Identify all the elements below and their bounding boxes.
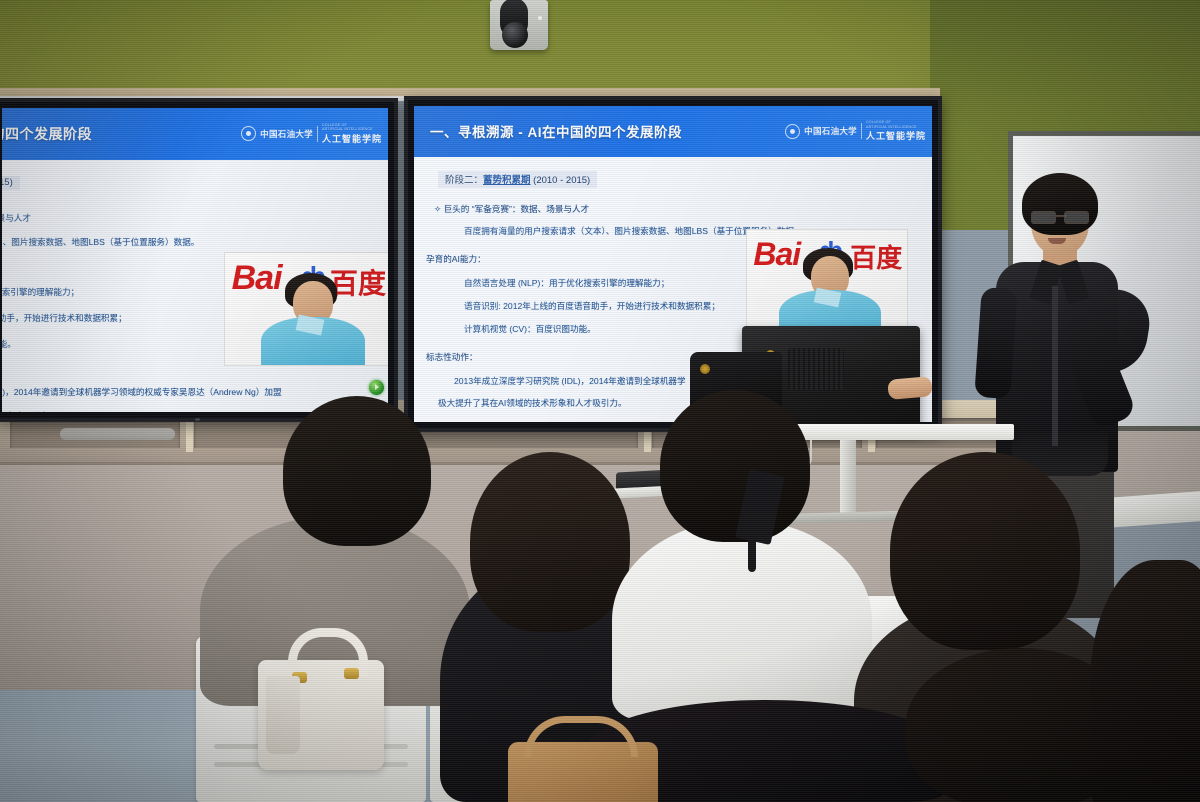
stage-name: 蓄势积累期 bbox=[483, 175, 531, 186]
department-block: COLLEGE OF ARTIFICIAL INTELLIGENCE 人工智能学… bbox=[866, 120, 926, 142]
audience-member-head bbox=[660, 390, 810, 542]
bag-clip-icon bbox=[700, 364, 710, 374]
camera-dome bbox=[502, 22, 528, 48]
classroom-photo: 国的四个发展阶段 中国石油大学 COLLEGE OF ARTIFICIAL IN… bbox=[0, 0, 1200, 802]
right-slide-logo: 中国石油大学 COLLEGE OF ARTIFICIAL INTELLIGENC… bbox=[785, 120, 926, 142]
stage-prefix: 阶段二： bbox=[445, 175, 483, 186]
audience-member-head bbox=[470, 452, 630, 632]
strap-loop bbox=[748, 520, 756, 572]
ceiling-camera bbox=[490, 0, 548, 50]
display-led-icon bbox=[195, 418, 200, 421]
slide-section-2-item: 语音识别: 2012年上线的百度语音助手，开始进行技术和数据积累； bbox=[464, 300, 720, 312]
soundbar-left bbox=[60, 428, 175, 440]
slide-section-3-item: 2013年成立深度学习研究院 (IDL)，2014年邀请到全球机器学 bbox=[454, 375, 686, 387]
slide-section-2-item: 自然语言处理 (NLP)：用于优化搜索引擎的理解能力； bbox=[464, 277, 669, 289]
baidu-wordmark: Bai bbox=[232, 259, 282, 298]
slide-line: (IDL)，2014年邀请到全球机器学习领域的权威专家吴恩达（Andrew Ng… bbox=[2, 386, 282, 398]
camera-indicator-icon bbox=[538, 16, 542, 20]
presenter-shirt-placket bbox=[1052, 286, 1058, 446]
baidu-photo: Bai ȸ 百度 bbox=[746, 229, 908, 337]
handbag-side-flap bbox=[266, 676, 300, 754]
slide-section-2: 孕育的AI能力： bbox=[426, 253, 486, 265]
department-name: 人工智能学院 bbox=[866, 129, 926, 142]
left-slide-logo: 中国石油大学 COLLEGE OF ARTIFICIAL INTELLIGENC… bbox=[241, 123, 382, 145]
baidu-wordmark: Bai bbox=[753, 236, 800, 273]
audience-member-head bbox=[283, 396, 431, 546]
play-badge-icon[interactable] bbox=[369, 380, 384, 395]
university-name: 中国石油大学 bbox=[260, 128, 313, 140]
left-slide-title: 国的四个发展阶段 bbox=[2, 124, 92, 144]
left-slide-body: 15) 场景与人才 求（文本）、图片搜索数据、地图LBS（基于位置服务）数据。 … bbox=[2, 160, 388, 412]
slide-section-3: 标志性动作： bbox=[426, 351, 478, 363]
baidu-photo: Bai ȸ 百度 bbox=[224, 252, 388, 366]
slide-line: 场景与人才 bbox=[2, 212, 31, 224]
university-seal-icon bbox=[241, 126, 256, 141]
university-seal-icon bbox=[785, 124, 800, 139]
slide-section-3-item: 极大提升了其在AI领域的技术形象和人才吸引力。 bbox=[438, 397, 627, 409]
left-slide: 国的四个发展阶段 中国石油大学 COLLEGE OF ARTIFICIAL IN… bbox=[2, 108, 388, 412]
presenter-left-arm bbox=[974, 287, 1018, 399]
right-slide-header: 一、寻根溯源 - AI在中国的四个发展阶段 中国石油大学 COLLEGE OF … bbox=[414, 106, 932, 157]
department-block: COLLEGE OF ARTIFICIAL INTELLIGENCE 人工智能学… bbox=[322, 123, 382, 145]
stage-years: (2010 - 2015) bbox=[533, 175, 590, 186]
department-name: 人工智能学院 bbox=[322, 132, 382, 145]
logo-divider bbox=[317, 126, 318, 142]
right-slide-title: 一、寻根溯源 - AI在中国的四个发展阶段 bbox=[430, 121, 682, 141]
white-handbag bbox=[258, 660, 384, 770]
handbag-clasp-icon bbox=[344, 668, 359, 679]
university-name: 中国石油大学 bbox=[804, 125, 857, 137]
tan-bag bbox=[508, 742, 658, 802]
slide-line: 形象和人才吸引力。 bbox=[2, 410, 57, 412]
monitor-vent bbox=[788, 348, 844, 390]
left-slide-header: 国的四个发展阶段 中国石油大学 COLLEGE OF ARTIFICIAL IN… bbox=[2, 108, 388, 160]
slide-section-2-item: 计算机视觉 (CV)：百度识图功能。 bbox=[464, 323, 596, 335]
glasses-icon bbox=[1030, 211, 1090, 222]
presenter-hair bbox=[1022, 173, 1098, 235]
presenter-hand bbox=[887, 376, 933, 400]
logo-divider bbox=[861, 123, 862, 139]
baidu-cn-wordmark: 百度 bbox=[850, 238, 902, 275]
stage-tag: 15) bbox=[2, 176, 20, 190]
audience-member-body bbox=[612, 520, 872, 720]
audience-member-head bbox=[890, 452, 1080, 650]
slide-line: 求（文本）、图片搜索数据、地图LBS（基于位置服务）数据。 bbox=[2, 236, 199, 248]
wall-trim bbox=[0, 88, 940, 96]
podium-column bbox=[840, 440, 856, 518]
baidu-cn-wordmark: 百度 bbox=[330, 262, 386, 302]
slide-bullet-1: ✧ 巨头的 “军备竞赛”：数据、场景与人才 bbox=[434, 203, 589, 215]
left-display[interactable]: 国的四个发展阶段 中国石油大学 COLLEGE OF ARTIFICIAL IN… bbox=[0, 98, 398, 422]
slide-line: 优化搜索引擎的理解能力； bbox=[2, 286, 79, 298]
slide-line: 度语音助手，开始进行技术和数据积累； bbox=[2, 312, 127, 324]
slide-line: 功能。 bbox=[2, 338, 16, 350]
stage-heading: 阶段二：蓄势积累期 (2010 - 2015) bbox=[438, 171, 597, 188]
